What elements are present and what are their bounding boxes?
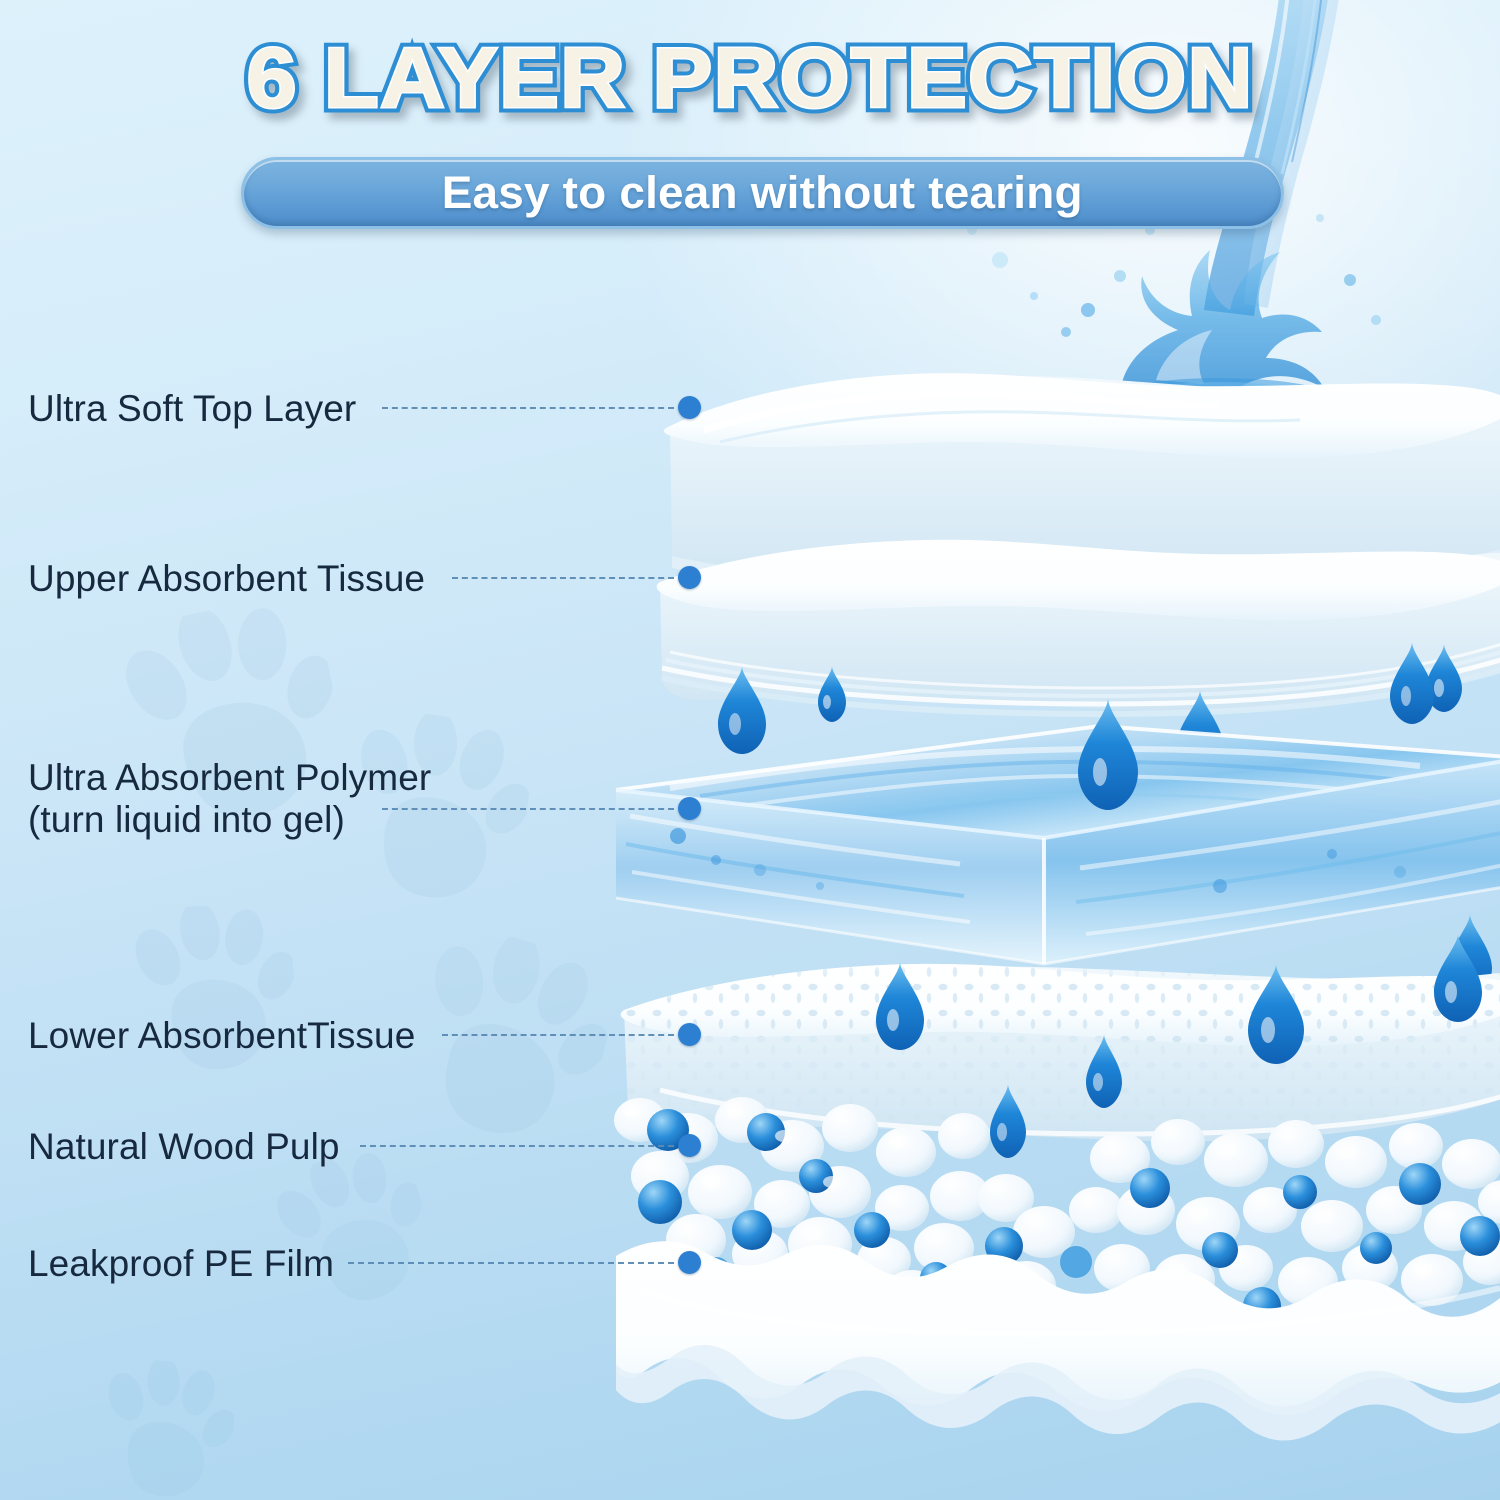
upper-absorbent-tissue-icon	[657, 540, 1500, 714]
layer-label-3: Ultra Absorbent Polymer(turn liquid into…	[28, 757, 431, 841]
leader-line-3	[382, 808, 674, 810]
leader-line-2	[452, 577, 674, 579]
marker-dot-3	[678, 797, 701, 820]
infographic-page: 6 LAYER PROTECTION 6 LAYER PROTECTION Ea…	[0, 0, 1500, 1500]
absorbent-polymer-gel-icon	[616, 726, 1500, 964]
marker-dot-5	[678, 1134, 701, 1157]
subtitle-text: Easy to clean without tearing	[442, 167, 1083, 219]
natural-wood-pulp-icon	[614, 1097, 1500, 1367]
layer-label-line1: Upper Absorbent Tissue	[28, 557, 425, 600]
page-title: 6 LAYER PROTECTION 6 LAYER PROTECTION	[0, 36, 1500, 121]
layer-label-line1: Natural Wood Pulp	[28, 1125, 340, 1168]
water-droplet	[718, 666, 766, 754]
water-droplet	[1248, 964, 1304, 1064]
marker-dot-4	[678, 1023, 701, 1046]
marker-dot-6	[678, 1251, 701, 1274]
marker-dot-1	[678, 396, 701, 419]
marker-dot-2	[678, 566, 701, 589]
lower-absorbent-tissue-icon	[621, 964, 1500, 1141]
leader-line-5	[360, 1145, 674, 1147]
water-droplet	[818, 666, 846, 722]
layer-label-line1: Leakproof PE Film	[28, 1242, 334, 1285]
page-title-text-inner: 6 LAYER PROTECTION	[246, 36, 1253, 121]
water-droplet	[1176, 690, 1224, 778]
water-droplet	[990, 1084, 1026, 1158]
water-droplet	[1426, 644, 1462, 712]
subtitle-banner: Easy to clean without tearing	[241, 157, 1284, 229]
layer-label-line1: Lower AbsorbentTissue	[28, 1014, 415, 1057]
water-droplet	[1078, 698, 1138, 810]
layer-label-6: Leakproof PE Film	[28, 1242, 334, 1285]
water-droplet	[1434, 934, 1482, 1022]
layer-label-line1: Ultra Soft Top Layer	[28, 387, 356, 430]
layer-label-4: Lower AbsorbentTissue	[28, 1014, 415, 1057]
layer-label-1: Ultra Soft Top Layer	[28, 387, 356, 430]
layer-label-2: Upper Absorbent Tissue	[28, 557, 425, 600]
paw-print-watermark	[383, 917, 627, 1174]
leakproof-pe-film-icon	[616, 1241, 1500, 1440]
paw-print-watermark	[90, 1355, 239, 1500]
water-droplet	[1086, 1034, 1122, 1108]
layer-label-line2: (turn liquid into gel)	[28, 799, 431, 841]
layer-label-5: Natural Wood Pulp	[28, 1125, 340, 1168]
layer-label-line1: Ultra Absorbent Polymer	[28, 757, 431, 799]
water-droplet	[1448, 914, 1492, 996]
layer-stack-illustration	[520, 330, 1500, 1500]
water-droplet	[1390, 642, 1434, 724]
leader-line-6	[348, 1262, 674, 1264]
water-droplet	[876, 962, 924, 1050]
leader-line-1	[382, 407, 674, 409]
soft-top-layer-icon	[664, 373, 1500, 606]
paw-print-watermark	[125, 900, 301, 1090]
leader-line-4	[442, 1034, 674, 1036]
